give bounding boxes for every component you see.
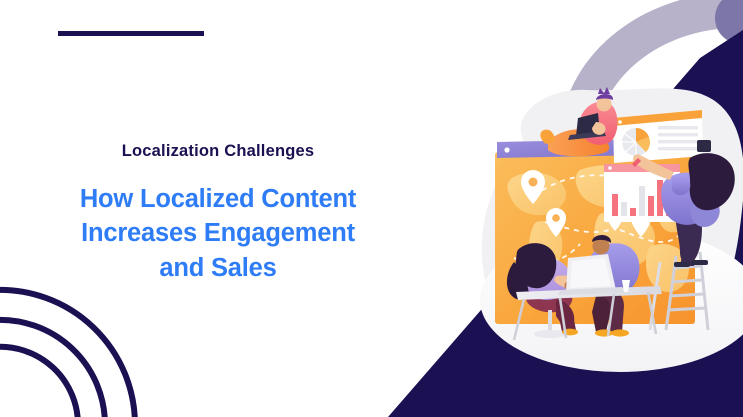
location-pin xyxy=(546,208,566,237)
office-chair xyxy=(526,284,572,312)
person-with-laptop-on-top xyxy=(540,87,617,156)
coffee-cup xyxy=(622,280,630,292)
continents xyxy=(508,165,689,292)
pie-chart-slices xyxy=(622,128,650,156)
ladder-back-leg xyxy=(650,262,660,330)
dashed-route-line xyxy=(514,175,678,263)
person-on-ladder xyxy=(632,153,735,267)
light-grey-blob xyxy=(482,88,743,365)
step-ladder xyxy=(666,252,708,330)
headline-line-1: How Localized Content xyxy=(80,185,356,213)
floor-ellipse xyxy=(480,228,743,372)
card-text-lines xyxy=(658,126,698,150)
laptop-on-desk xyxy=(558,254,624,295)
promo-banner: Localization Challenges How Localized Co… xyxy=(0,0,743,417)
navy-diagonal-wedge xyxy=(388,30,743,417)
small-device xyxy=(697,140,711,152)
text-block: Localization Challenges How Localized Co… xyxy=(40,142,396,285)
location-pin xyxy=(521,170,545,204)
person-standing-at-desk xyxy=(564,235,639,337)
pie-chart-card xyxy=(613,110,703,163)
headline-line-3: and Sales xyxy=(159,254,276,282)
purple-circle xyxy=(715,0,743,44)
location-pin xyxy=(606,205,624,231)
person-seated-at-desk xyxy=(507,243,584,338)
accent-bar xyxy=(58,31,204,36)
eyebrow-label: Localization Challenges xyxy=(40,142,396,162)
bar-chart-bars xyxy=(612,180,672,216)
bar-chart-card xyxy=(604,164,680,222)
world-map-board xyxy=(495,138,700,324)
page-title: How Localized Content Increases Engageme… xyxy=(40,182,396,285)
location-pin xyxy=(631,208,651,237)
desk xyxy=(514,286,662,340)
grey-arc-ring xyxy=(560,0,743,136)
headline-line-2: Increases Engagement xyxy=(81,219,355,247)
